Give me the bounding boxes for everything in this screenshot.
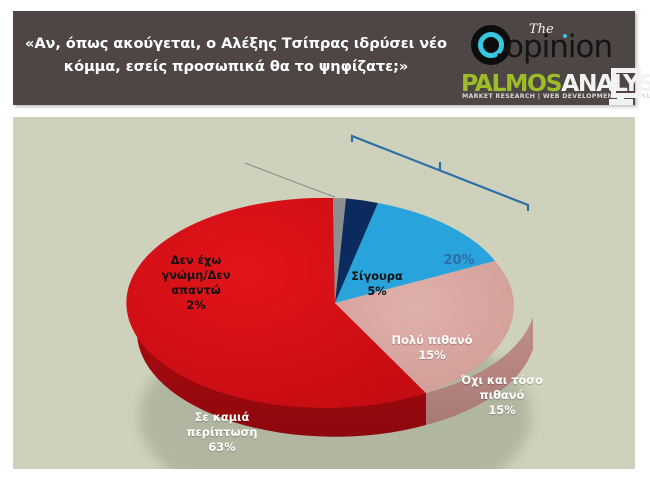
pie-value-nocase: 63% — [163, 440, 281, 455]
pie-label-notlikely-line1: Όχι και τόσο — [441, 373, 563, 388]
pie-label-nocase-line1: Σε καμιά — [163, 410, 281, 425]
pie-label-notlikely: Όχι και τόσο πιθανό 15% — [441, 373, 563, 418]
pie-label-notlikely-line2: πιθανό — [441, 388, 563, 403]
pie-label-nocase-line2: περίπτωση — [163, 425, 281, 440]
pie-chart: Δεν έχω γνώμη/Δεν απαντώ 2% Σίγουρα 5% Π… — [13, 117, 635, 469]
opinion-dot-icon — [563, 34, 567, 38]
logo-block: opinion The PALMOSANALYSIS MARKET RESEAR… — [461, 19, 647, 107]
slide-root: «Αν, όπως ακούγεται, ο Αλέξης Τσίπρας ιδ… — [0, 0, 650, 488]
header-bar: «Αν, όπως ακούγεται, ο Αλέξης Τσίπρας ιδ… — [13, 11, 635, 105]
pie-label-verylikely: Πολύ πιθανό 15% — [376, 333, 488, 363]
pie-value-noopinion: 2% — [136, 298, 256, 313]
pie-label-noopinion-line2: γνώμη/Δεν — [136, 268, 256, 283]
pie-value-verylikely: 15% — [376, 348, 488, 363]
pie-value-notlikely: 15% — [441, 403, 563, 418]
page-title: «Αν, όπως ακούγεται, ο Αλέξης Τσίπρας ιδ… — [21, 33, 451, 78]
palmos-square-icon — [611, 68, 641, 98]
pie-label-noopinion: Δεν έχω γνώμη/Δεν απαντώ 2% — [136, 253, 256, 313]
pie-label-sure-line1: Σίγουρα — [331, 269, 423, 284]
palmos-base-icon — [609, 99, 633, 105]
the-opinion-logo: opinion The — [471, 23, 647, 67]
pie-label-noopinion-line3: απαντώ — [136, 283, 256, 298]
bracket-label-20: 20% — [429, 253, 489, 268]
pie-label-nocase: Σε καμιά περίπτωση 63% — [163, 410, 281, 455]
pie-label-sure: Σίγουρα 5% — [331, 269, 423, 299]
pie-label-verylikely-line1: Πολύ πιθανό — [376, 333, 488, 348]
opinion-wordmark: opinion — [505, 29, 612, 65]
pie-label-noopinion-line1: Δεν έχω — [136, 253, 256, 268]
pie-value-sure: 5% — [331, 284, 423, 299]
opinion-the-text: The — [529, 22, 554, 37]
chart-panel: Δεν έχω γνώμη/Δεν απαντώ 2% Σίγουρα 5% Π… — [13, 117, 635, 469]
bracket-annotation — [352, 136, 528, 211]
palmos-analysis-logo: PALMOSANALYSIS MARKET RESEARCH | WEB DEV… — [461, 69, 647, 105]
leader-line-noopinion — [245, 163, 335, 197]
